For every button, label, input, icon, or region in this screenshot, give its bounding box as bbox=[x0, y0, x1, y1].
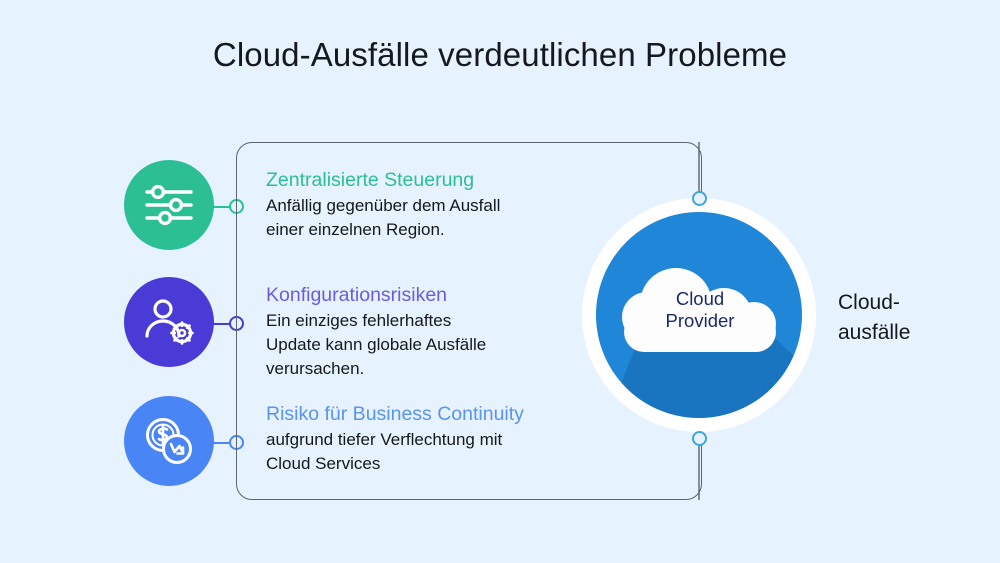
outcome-label: Cloud- ausfälle bbox=[838, 288, 988, 348]
money-loss-icon bbox=[141, 414, 197, 468]
sliders-icon bbox=[141, 180, 197, 230]
cloud-connector-dot-bottom bbox=[692, 431, 707, 446]
slide-canvas: Cloud-Ausfälle verdeutlichen Probleme bbox=[0, 0, 1000, 563]
cloud-label-line: Cloud bbox=[622, 288, 778, 310]
outcome-label-line: Cloud- bbox=[838, 288, 988, 318]
feature-icon-badge[interactable] bbox=[124, 277, 214, 367]
page-title: Cloud-Ausfälle verdeutlichen Probleme bbox=[0, 36, 1000, 74]
user-gear-icon bbox=[141, 296, 197, 348]
cloud-connector-dot-top bbox=[692, 191, 707, 206]
feature-icon-badge[interactable] bbox=[124, 160, 214, 250]
cloud-label: Cloud Provider bbox=[622, 288, 778, 332]
cloud-circle: Cloud Provider bbox=[596, 212, 802, 418]
cloud-provider-node[interactable]: Cloud Provider bbox=[582, 198, 816, 432]
cloud-label-line: Provider bbox=[622, 310, 778, 332]
feature-icon-badge[interactable] bbox=[124, 396, 214, 486]
outcome-label-line: ausfälle bbox=[838, 318, 988, 348]
cloud-icon: Cloud Provider bbox=[622, 262, 778, 354]
